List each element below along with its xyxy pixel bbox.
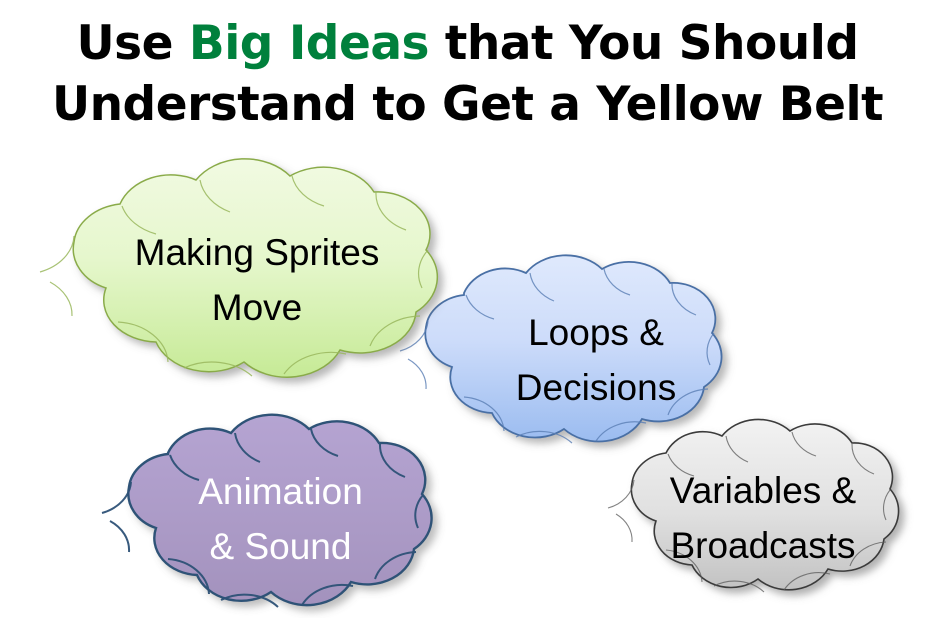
slide-canvas: Use Big Ideas that You Should Understand… — [0, 0, 935, 618]
cloud-shape-green — [2, 158, 512, 403]
cloud-shape-purple — [70, 413, 485, 618]
cloud-animation-sound[interactable]: Animation & Sound — [70, 413, 485, 618]
title-line-1-after: that You Should — [429, 16, 858, 71]
title-line-1-before: Use — [76, 16, 188, 71]
title-line-2: Understand to Get a Yellow Belt — [0, 75, 935, 136]
page-title: Use Big Ideas that You Should Understand… — [0, 14, 935, 135]
title-line-1: Use Big Ideas that You Should — [0, 14, 935, 75]
cloud-making-sprites-move[interactable]: Making Sprites Move — [2, 158, 512, 403]
title-highlight-big-ideas: Big Ideas — [189, 16, 429, 71]
